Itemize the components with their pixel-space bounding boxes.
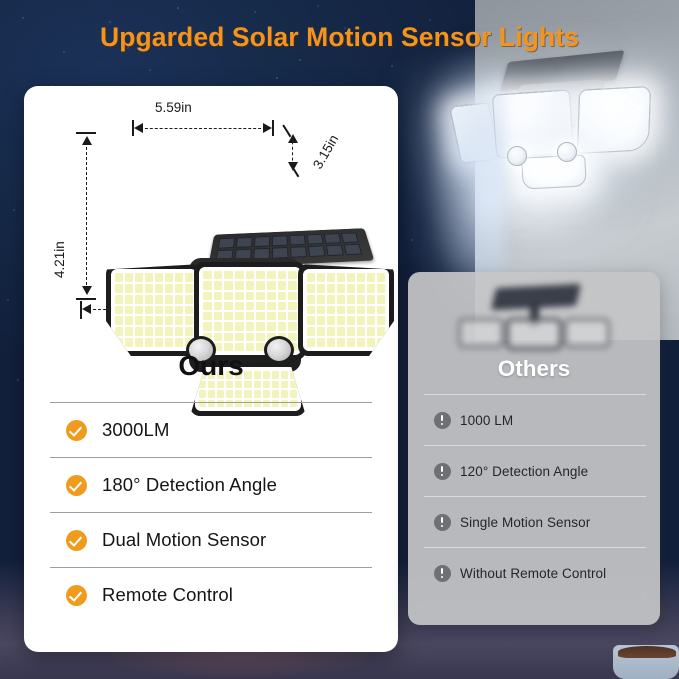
others-feature-label: 120° Detection Angle	[460, 464, 588, 479]
ours-feature-label: Dual Motion Sensor	[102, 529, 266, 551]
list-item: Without Remote Control	[424, 547, 646, 598]
ours-heading: Ours	[24, 350, 398, 382]
led-panel-right	[298, 264, 394, 356]
ours-feature-label: 180° Detection Angle	[102, 474, 277, 496]
dim-arrow	[288, 162, 298, 171]
exclamation-circle-icon	[424, 514, 460, 531]
ours-feature-label: 3000LM	[102, 419, 169, 441]
dim-line-width-top	[140, 128, 266, 129]
photo-led-panel-bottom	[521, 154, 587, 189]
others-feature-list: 1000 LM 120° Detection Angle Single Moti…	[424, 394, 646, 598]
check-circle-icon	[50, 585, 102, 606]
solar-cells	[215, 232, 362, 261]
check-circle-icon	[50, 530, 102, 551]
dim-tick	[76, 132, 96, 134]
others-feature-label: Without Remote Control	[460, 566, 606, 581]
exclamation-circle-icon	[424, 412, 460, 429]
others-heading: Others	[408, 356, 660, 382]
dim-arrow	[82, 286, 92, 295]
list-item: Single Motion Sensor	[424, 496, 646, 547]
ours-panel: 5.59in 3.15in 4.21in	[24, 86, 398, 652]
list-item: Remote Control	[50, 567, 372, 622]
dim-arrow	[263, 123, 272, 133]
ours-feature-label: Remote Control	[102, 584, 233, 606]
others-led-panel-center	[506, 318, 562, 350]
others-led-panel-left	[458, 318, 504, 348]
list-item: 120° Detection Angle	[424, 445, 646, 496]
dim-arrow	[82, 304, 91, 314]
others-feature-label: 1000 LM	[460, 413, 513, 428]
list-item: 1000 LM	[424, 394, 646, 445]
dim-line-height	[86, 142, 87, 290]
led-grid-left	[111, 269, 197, 351]
plant-soil	[618, 646, 676, 658]
dim-arrow	[82, 136, 92, 145]
dim-arrow	[288, 134, 298, 143]
product-comparison-image: Upgarded Solar Motion Sensor Lights 5.59…	[0, 0, 679, 679]
dimension-label-depth: 3.15in	[310, 132, 341, 171]
others-product-image	[444, 282, 624, 354]
others-led-panel-right	[564, 318, 610, 348]
list-item: Dual Motion Sensor	[50, 512, 372, 567]
check-circle-icon	[50, 475, 102, 496]
photo-motion-sensor-right	[557, 142, 577, 162]
exclamation-circle-icon	[424, 463, 460, 480]
dimension-label-height: 4.21in	[52, 241, 67, 278]
dimension-label-width-top: 5.59in	[155, 100, 192, 115]
ours-feature-list: 3000LM 180° Detection Angle Dual Motion …	[50, 402, 372, 622]
page-title: Upgarded Solar Motion Sensor Lights	[0, 22, 679, 53]
exclamation-circle-icon	[424, 565, 460, 582]
photo-led-panel-right	[577, 86, 651, 154]
others-panel: Others 1000 LM 120° Detection Angle Sing…	[408, 272, 660, 625]
dim-tick	[272, 120, 274, 136]
dim-arrow	[134, 123, 143, 133]
list-item: 180° Detection Angle	[50, 457, 372, 512]
list-item: 3000LM	[50, 402, 372, 457]
led-grid-right	[303, 269, 389, 351]
photo-motion-sensor-left	[507, 146, 527, 166]
check-circle-icon	[50, 420, 102, 441]
others-feature-label: Single Motion Sensor	[460, 515, 590, 530]
dim-tick	[76, 298, 96, 300]
